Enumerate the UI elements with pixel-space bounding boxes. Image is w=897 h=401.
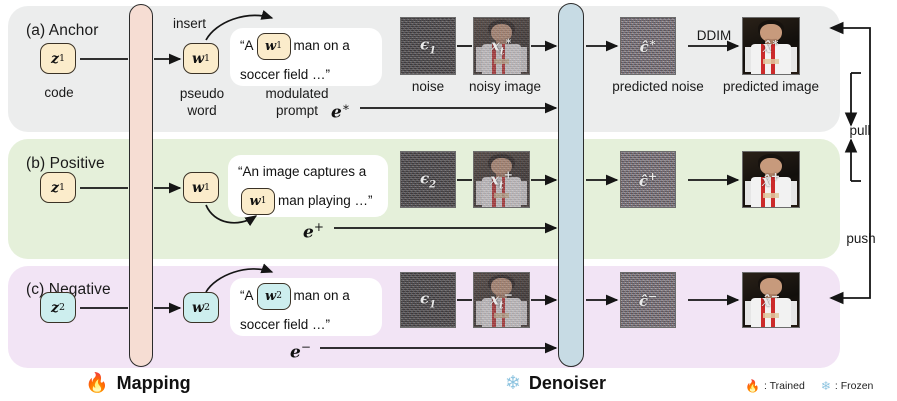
code-chip-positive-sym: z: [51, 180, 59, 196]
code-chip-anchor-sub: 1: [59, 53, 65, 64]
fire-icon-small: 🔥: [745, 379, 760, 393]
noise-tile-positive-symbol: ϵ2: [401, 169, 455, 190]
noisy-image-tile-positive-symbol: xt+: [474, 168, 529, 191]
noisy-sub: t: [499, 301, 504, 312]
code-chip-positive: z1: [40, 172, 76, 203]
noisy-sub: t: [499, 180, 504, 191]
pred-image-sym: x̂: [762, 172, 771, 190]
pred-image-sup: −: [771, 290, 780, 303]
noisy-sup: ∗: [504, 35, 512, 48]
legend-mapping: 🔥 Mapping: [85, 373, 191, 394]
pred-image-sym: x̂: [762, 292, 771, 310]
pred-noise-sym: ϵ̂: [640, 38, 649, 56]
mapping-module-bar: [129, 4, 153, 367]
embedding-symbol-positive-base: e: [303, 223, 314, 243]
pred-noise-sym: ϵ̂: [639, 292, 648, 310]
noisy-image-tile-negative-symbol: xt−: [474, 289, 529, 312]
inline-chip-sub: 1: [261, 188, 267, 215]
embedding-symbol-negative-sup: −: [301, 340, 311, 354]
prompt-bubble-positive: “An image captures a w1man playing …”: [228, 155, 388, 217]
noisy-sym: x: [490, 291, 499, 309]
prompt-bubble-negative: “Aw2man on a soccer field …”: [230, 278, 382, 336]
prompt-line-2: w1man playing …”: [238, 187, 378, 216]
embedding-symbol-negative: e−: [290, 340, 311, 363]
fire-icon: 🔥: [85, 374, 109, 393]
noise-tile-anchor-symbol: ϵ1: [401, 36, 455, 57]
row-title-anchor: (a) Anchor: [26, 22, 99, 40]
predicted-noise-tile-positive-symbol: ϵ̂+: [621, 170, 675, 190]
noise-sub: 2: [429, 179, 436, 190]
noise-sym: ϵ: [420, 36, 429, 54]
noisy-sup: +: [504, 168, 513, 181]
noisy-image-tile-anchor: xt∗: [473, 17, 530, 75]
code-chip-negative-sym: z: [51, 300, 59, 316]
label-pseudo-word-line2: word: [173, 102, 231, 119]
embedding-symbol-positive-sup: +: [314, 220, 324, 234]
snowflake-icon-small: ❄: [821, 379, 831, 393]
prompt-text-post: man playing …”: [278, 193, 373, 208]
pseudo-word-chip-anchor-sym: w: [192, 51, 204, 67]
noisy-sup: −: [504, 289, 513, 302]
pred-noise-sym: ϵ̂: [639, 172, 648, 190]
code-chip-positive-sub: 1: [59, 182, 65, 193]
predicted-noise-tile-negative-symbol: ϵ̂−: [621, 290, 675, 310]
predicted-image-tile-negative: x̂−: [742, 272, 800, 328]
pred-image-sym: x̂: [763, 38, 772, 56]
label-modulated-prompt: modulated prompt: [252, 85, 342, 119]
predicted-image-tile-anchor: x̂∗: [742, 17, 800, 75]
figure-canvas: (a) Anchor (b) Positive (c) Negative z1 …: [0, 0, 897, 401]
code-chip-negative-sub: 2: [59, 302, 65, 313]
legend-frozen-label: : Frozen: [835, 380, 874, 392]
noise-sub: 1: [429, 300, 436, 311]
noise-sym: ϵ: [420, 169, 429, 187]
label-pseudo-word-line1: pseudo: [173, 85, 231, 102]
label-predicted-noise: predicted noise: [608, 79, 708, 94]
inline-chip-sub: 2: [276, 282, 282, 311]
legend-mapping-label: Mapping: [117, 373, 191, 394]
prompt-line-1: “An image captures a: [238, 158, 378, 187]
prompt-text-pre: “A: [240, 288, 254, 303]
inline-pseudo-word-chip-negative: w2: [257, 283, 291, 310]
noise-tile-negative: ϵ1: [400, 272, 456, 328]
noise-tile-positive: ϵ2: [400, 151, 456, 208]
legend-denoiser-label: Denoiser: [529, 373, 606, 394]
inline-chip-sub: 1: [276, 32, 282, 61]
pseudo-word-chip-negative: w2: [183, 292, 219, 323]
prompt-text-pre: “A: [240, 38, 254, 53]
prompt-text-post: man on a: [294, 288, 350, 303]
pseudo-word-chip-positive-sym: w: [192, 180, 204, 196]
pred-image-sup: +: [771, 170, 780, 183]
noisy-sym: x: [490, 170, 499, 188]
prompt-line-2: soccer field …”: [240, 310, 372, 339]
legend-key: 🔥 : Trained ❄ : Frozen: [745, 379, 873, 393]
pseudo-word-chip-anchor: w1: [183, 43, 219, 74]
inline-chip-sym: w: [265, 282, 276, 311]
label-modulated-prompt-line1: modulated: [252, 85, 342, 102]
embedding-symbol-negative-base: e: [290, 343, 301, 363]
label-push: push: [841, 231, 881, 246]
code-chip-anchor-sym: z: [51, 51, 59, 67]
prompt-bubble-anchor: “Aw1man on a soccer field …”: [230, 28, 382, 86]
label-modulated-prompt-line2: prompt: [252, 102, 342, 119]
code-chip-negative: z2: [40, 292, 76, 323]
predicted-image-tile-negative-symbol: x̂−: [743, 290, 799, 310]
predicted-noise-tile-anchor: ϵ̂∗: [620, 17, 676, 75]
label-code: code: [37, 85, 81, 100]
pseudo-word-chip-positive: w1: [183, 172, 219, 203]
noise-sub: 1: [429, 46, 436, 57]
predicted-image-tile-anchor-symbol: x̂∗: [743, 36, 799, 56]
noisy-sub: t: [500, 47, 505, 58]
pseudo-word-chip-positive-sub: 1: [204, 182, 210, 193]
inline-chip-sym: w: [265, 32, 276, 61]
pred-noise-sup: −: [648, 290, 657, 303]
label-insert: insert: [173, 16, 206, 31]
predicted-image-tile-positive-symbol: x̂+: [743, 170, 799, 190]
embedding-symbol-anchor-base: e: [331, 103, 342, 123]
legend-trained-label: : Trained: [764, 380, 805, 392]
inline-pseudo-word-chip-positive: w1: [241, 188, 275, 215]
row-title-positive: (b) Positive: [26, 155, 105, 173]
prompt-line-1: “Aw1man on a: [240, 31, 372, 60]
noisy-sym: x: [491, 37, 500, 55]
pred-image-sup: ∗: [772, 36, 780, 49]
predicted-noise-tile-anchor-symbol: ϵ̂∗: [621, 36, 675, 56]
noise-sym: ϵ: [420, 290, 429, 308]
prompt-line-1: “Aw2man on a: [240, 281, 372, 310]
label-predicted-image: predicted image: [716, 79, 826, 94]
inline-pseudo-word-chip-anchor: w1: [257, 33, 291, 60]
embedding-symbol-anchor-sup: ∗: [342, 100, 350, 114]
embedding-symbol-positive: e+: [303, 220, 324, 243]
predicted-noise-tile-negative: ϵ̂−: [620, 272, 676, 328]
noise-tile-anchor: ϵ1: [400, 17, 456, 75]
label-pseudo-word: pseudo word: [173, 85, 231, 119]
noisy-image-tile-anchor-symbol: xt∗: [474, 35, 529, 58]
label-ddim: DDIM: [690, 28, 738, 43]
legend-denoiser: ❄ Denoiser: [505, 373, 606, 394]
prompt-text-post: man on a: [294, 38, 350, 53]
pseudo-word-chip-anchor-sub: 1: [204, 53, 210, 64]
pseudo-word-chip-negative-sub: 2: [204, 302, 210, 313]
denoiser-module-bar: [558, 3, 584, 367]
label-noise: noise: [398, 79, 458, 94]
predicted-image-tile-positive: x̂+: [742, 151, 800, 208]
noisy-image-tile-negative: xt−: [473, 272, 530, 328]
pseudo-word-chip-negative-sym: w: [192, 300, 204, 316]
pred-noise-sup: ∗: [649, 36, 657, 49]
noisy-image-tile-positive: xt+: [473, 151, 530, 208]
label-noisy-image: noisy image: [463, 79, 547, 94]
snowflake-icon: ❄: [505, 374, 521, 393]
noise-tile-negative-symbol: ϵ1: [401, 290, 455, 311]
inline-chip-sym: w: [250, 188, 261, 215]
code-chip-anchor: z1: [40, 43, 76, 74]
embedding-symbol-anchor: e∗: [331, 100, 350, 123]
pred-noise-sup: +: [648, 170, 657, 183]
predicted-noise-tile-positive: ϵ̂+: [620, 151, 676, 208]
label-pull: pull: [843, 123, 877, 138]
